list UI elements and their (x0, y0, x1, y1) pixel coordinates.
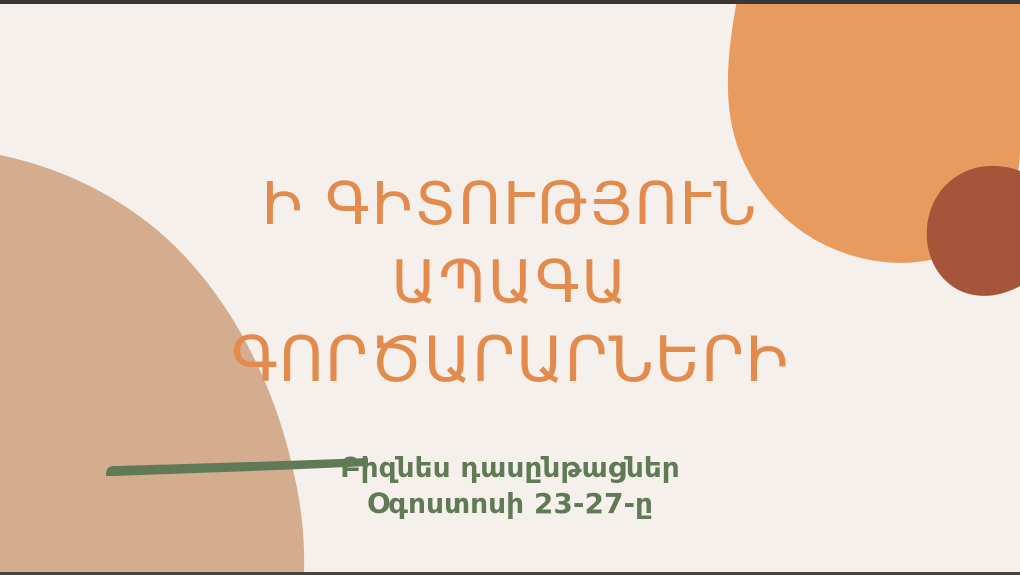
subtitle-line-1: Բիզնես դասընթացներ (0, 450, 1020, 486)
presentation-slide: Ի ԳԻՏՈՒԹՅՈՒՆ ԱՊԱԳԱ ԳՈՐԾԱՐԱՐՆԵՐԻ Բիզնես դ… (0, 0, 1020, 575)
slide-subtitle: Բիզնես դասընթացներ Օգոստոսի 23-27-ը (0, 450, 1020, 522)
subtitle-line-2: Օգոստոսի 23-27-ը (0, 486, 1020, 522)
top-edge-strip (0, 0, 1020, 4)
